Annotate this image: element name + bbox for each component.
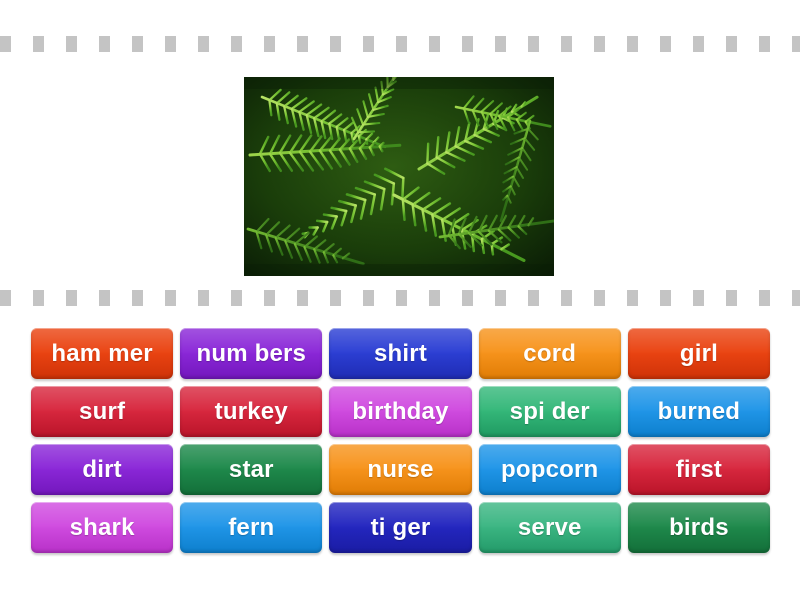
word-tile[interactable]: shirt bbox=[329, 328, 471, 379]
word-tile-label: turkey bbox=[215, 398, 288, 426]
word-tile-label: nurse bbox=[367, 456, 433, 484]
word-tile[interactable]: birthday bbox=[329, 386, 471, 437]
word-tile-label: popcorn bbox=[501, 456, 598, 484]
word-tile[interactable]: cord bbox=[479, 328, 621, 379]
word-tile-label: fern bbox=[228, 514, 274, 542]
word-tile[interactable]: nurse bbox=[329, 444, 471, 495]
word-tile-label: surf bbox=[79, 398, 125, 426]
fern-photo bbox=[244, 77, 554, 276]
word-tile[interactable]: birds bbox=[628, 502, 770, 553]
word-tile-label: shirt bbox=[374, 340, 427, 368]
tile-row: ham mernum bersshirtcordgirl bbox=[31, 328, 770, 379]
word-tile[interactable]: first bbox=[628, 444, 770, 495]
word-tile-label: spi der bbox=[510, 398, 590, 426]
word-tile-label: star bbox=[229, 456, 274, 484]
bottom-dashed-divider bbox=[0, 290, 800, 306]
word-tile-label: burned bbox=[658, 398, 741, 426]
word-tile[interactable]: popcorn bbox=[479, 444, 621, 495]
word-tile-label: shark bbox=[70, 514, 135, 542]
word-tile[interactable]: ti ger bbox=[329, 502, 471, 553]
word-tile[interactable]: girl bbox=[628, 328, 770, 379]
word-tile[interactable]: dirt bbox=[31, 444, 173, 495]
tile-row: sharkfernti gerservebirds bbox=[31, 502, 770, 553]
word-tile[interactable]: ham mer bbox=[31, 328, 173, 379]
top-dashed-divider bbox=[0, 36, 800, 52]
word-tile-grid: ham mernum bersshirtcordgirlsurfturkeybi… bbox=[31, 328, 770, 553]
tile-row: surfturkeybirthdayspi derburned bbox=[31, 386, 770, 437]
word-tile-label: num bers bbox=[196, 340, 306, 368]
word-tile[interactable]: surf bbox=[31, 386, 173, 437]
word-tile[interactable]: turkey bbox=[180, 386, 322, 437]
word-tile-label: birds bbox=[669, 514, 729, 542]
word-tile[interactable]: fern bbox=[180, 502, 322, 553]
word-tile[interactable]: spi der bbox=[479, 386, 621, 437]
word-tile-label: birthday bbox=[352, 398, 448, 426]
word-tile-label: serve bbox=[518, 514, 582, 542]
tile-row: dirtstarnursepopcornfirst bbox=[31, 444, 770, 495]
word-tile[interactable]: burned bbox=[628, 386, 770, 437]
word-tile[interactable]: star bbox=[180, 444, 322, 495]
word-tile-label: girl bbox=[680, 340, 718, 368]
activity-stage: ham mernum bersshirtcordgirlsurfturkeybi… bbox=[0, 0, 800, 600]
word-tile[interactable]: shark bbox=[31, 502, 173, 553]
word-tile[interactable]: num bers bbox=[180, 328, 322, 379]
word-tile-label: first bbox=[676, 456, 722, 484]
word-tile-label: ham mer bbox=[51, 340, 152, 368]
word-tile-label: dirt bbox=[82, 456, 121, 484]
word-tile-label: ti ger bbox=[371, 514, 431, 542]
fern-photo-illustration bbox=[244, 77, 554, 276]
word-tile[interactable]: serve bbox=[479, 502, 621, 553]
word-tile-label: cord bbox=[523, 340, 576, 368]
